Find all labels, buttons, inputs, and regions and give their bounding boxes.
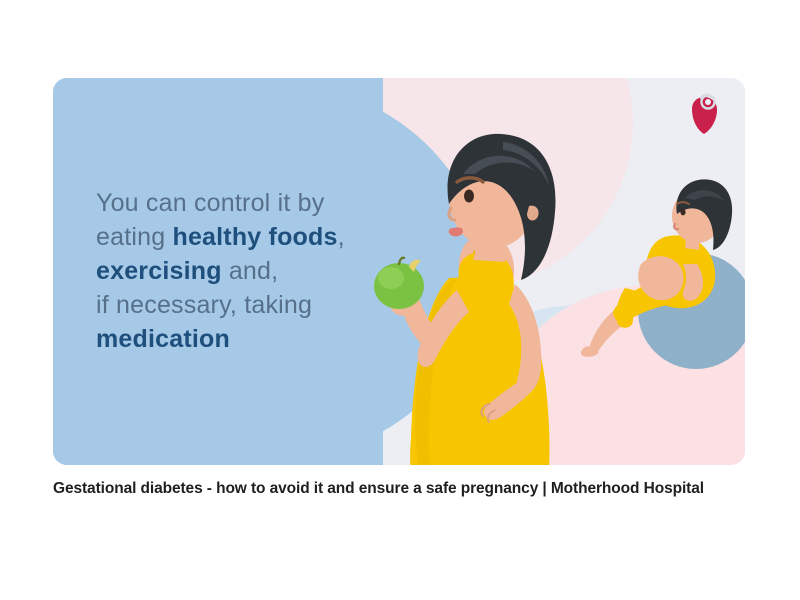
eye [464,190,474,203]
headline-line-3-plain: and, [222,257,279,285]
headline-bold-medication: medication [96,325,230,353]
motherhood-hospital-logo-icon [687,92,721,136]
pregnant-woman-holding-apple-illustration [353,128,583,465]
headline-line-2-comma: , [338,223,345,251]
pregnant-woman-on-exercise-ball-illustration [573,168,745,378]
headline-bold-exercising: exercising [96,257,222,285]
headline-bold-healthy-foods: healthy foods [172,223,337,251]
headline-line-1: You can control it by [96,189,324,217]
headline-line-2-plain: eating [96,223,172,251]
result-caption[interactable]: Gestational diabetes - how to avoid it a… [53,476,743,501]
image-result-card[interactable]: You can control it by eating healthy foo… [53,78,745,465]
headline-line-4: if necessary, taking [96,291,312,319]
lips [449,227,463,236]
